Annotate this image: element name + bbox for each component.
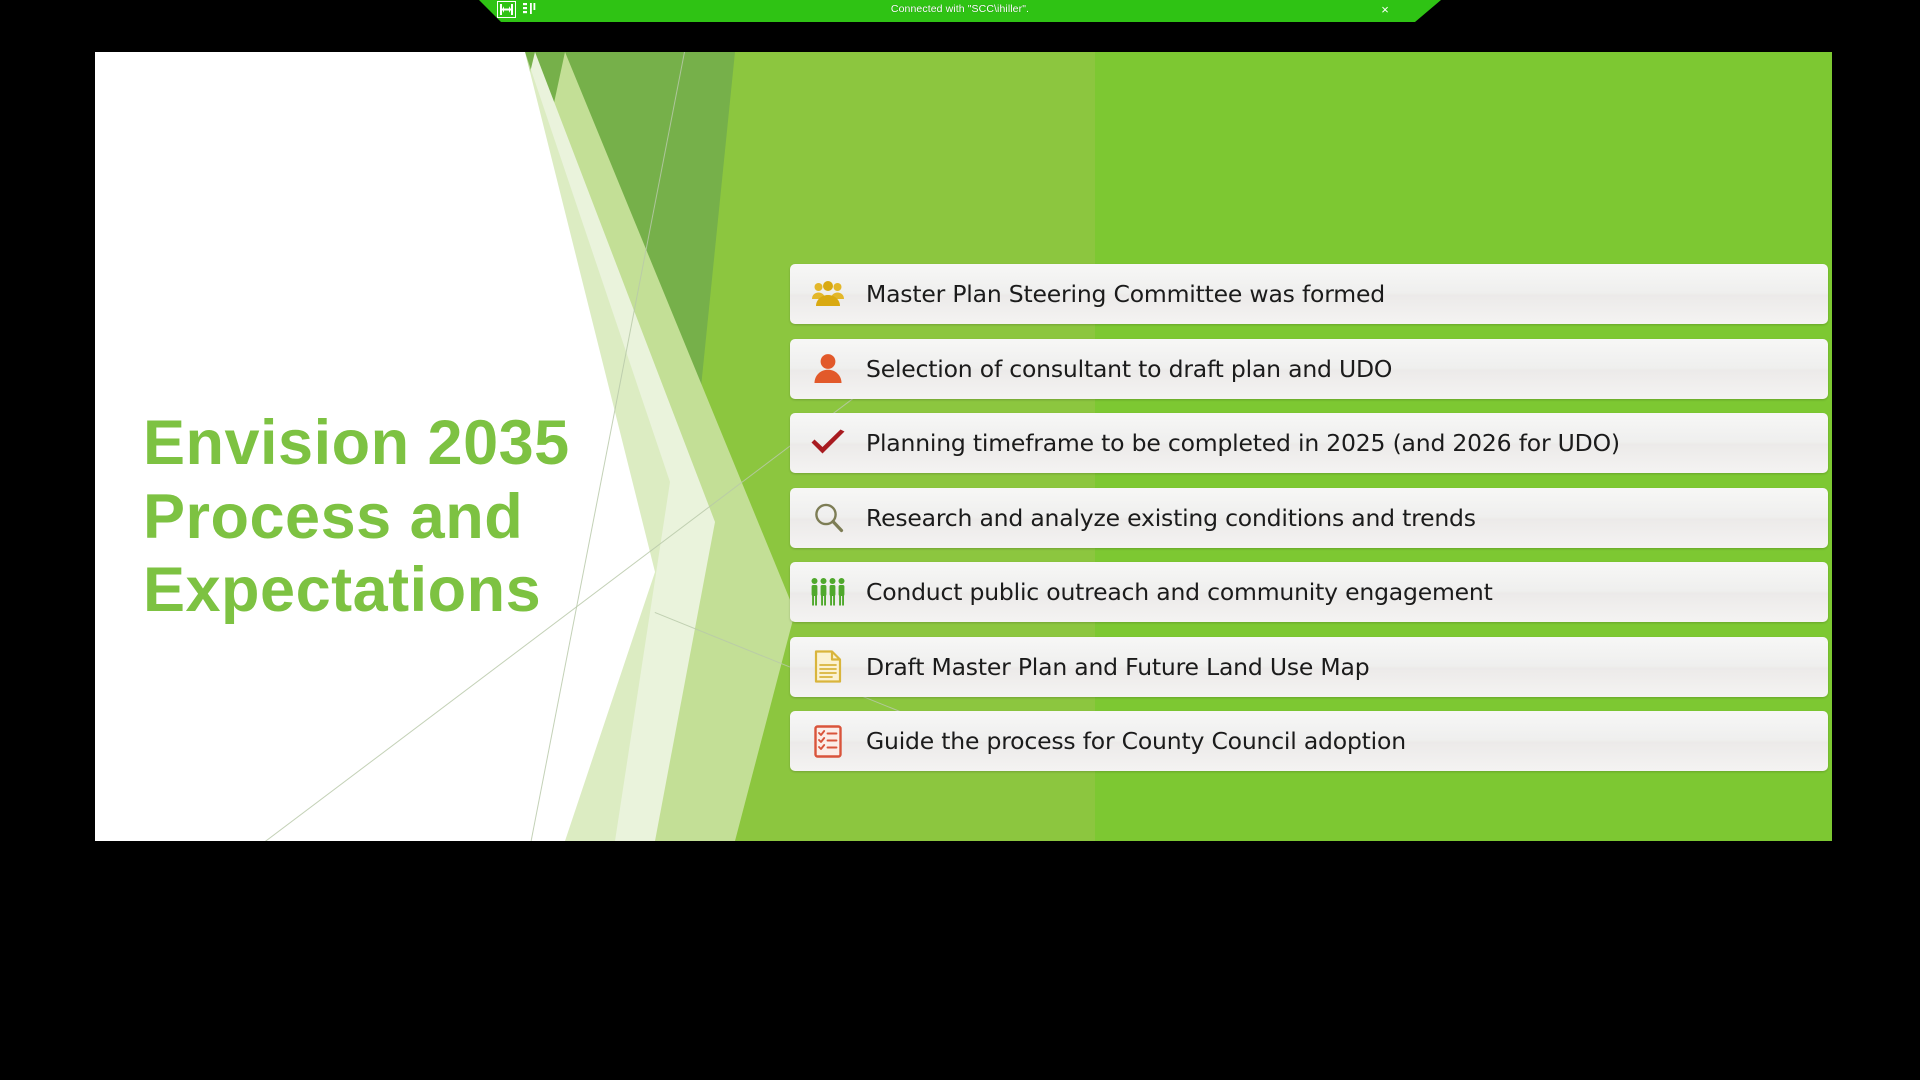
presentation-slide: Envision 2035 Process and Expectations M… (95, 52, 1832, 841)
list-item[interactable]: Guide the process for County Council ado… (790, 711, 1828, 771)
document-icon (790, 637, 866, 697)
list-item[interactable]: Selection of consultant to draft plan an… (790, 339, 1828, 399)
list-item[interactable]: Planning timeframe to be completed in 20… (790, 413, 1828, 473)
list-item-label: Conduct public outreach and community en… (866, 578, 1493, 606)
screen-share-bar: Connected with "SCC\ihiller". × (479, 0, 1441, 22)
list-item-label: Master Plan Steering Committee was forme… (866, 280, 1385, 308)
list-item[interactable]: Conduct public outreach and community en… (790, 562, 1828, 622)
close-icon[interactable]: × (1377, 1, 1393, 19)
group-of-people-icon (790, 264, 866, 324)
four-people-icon (790, 562, 866, 622)
list-item-label: Selection of consultant to draft plan an… (866, 355, 1392, 383)
process-list: Master Plan Steering Committee was forme… (790, 264, 1828, 786)
share-status-text: Connected with "SCC\ihiller". (479, 3, 1441, 15)
list-item[interactable]: Draft Master Plan and Future Land Use Ma… (790, 637, 1828, 697)
single-person-icon (790, 339, 866, 399)
list-item-label: Draft Master Plan and Future Land Use Ma… (866, 653, 1369, 681)
list-item-label: Research and analyze existing conditions… (866, 504, 1476, 532)
magnifying-glass-icon (790, 488, 866, 548)
list-item-label: Guide the process for County Council ado… (866, 727, 1406, 755)
check-mark-icon (790, 413, 866, 473)
page-title: Envision 2035 Process and Expectations (143, 407, 613, 628)
list-item-label: Planning timeframe to be completed in 20… (866, 429, 1620, 457)
list-item[interactable]: Research and analyze existing conditions… (790, 488, 1828, 548)
list-item[interactable]: Master Plan Steering Committee was forme… (790, 264, 1828, 324)
checklist-clipboard-icon (790, 711, 866, 771)
